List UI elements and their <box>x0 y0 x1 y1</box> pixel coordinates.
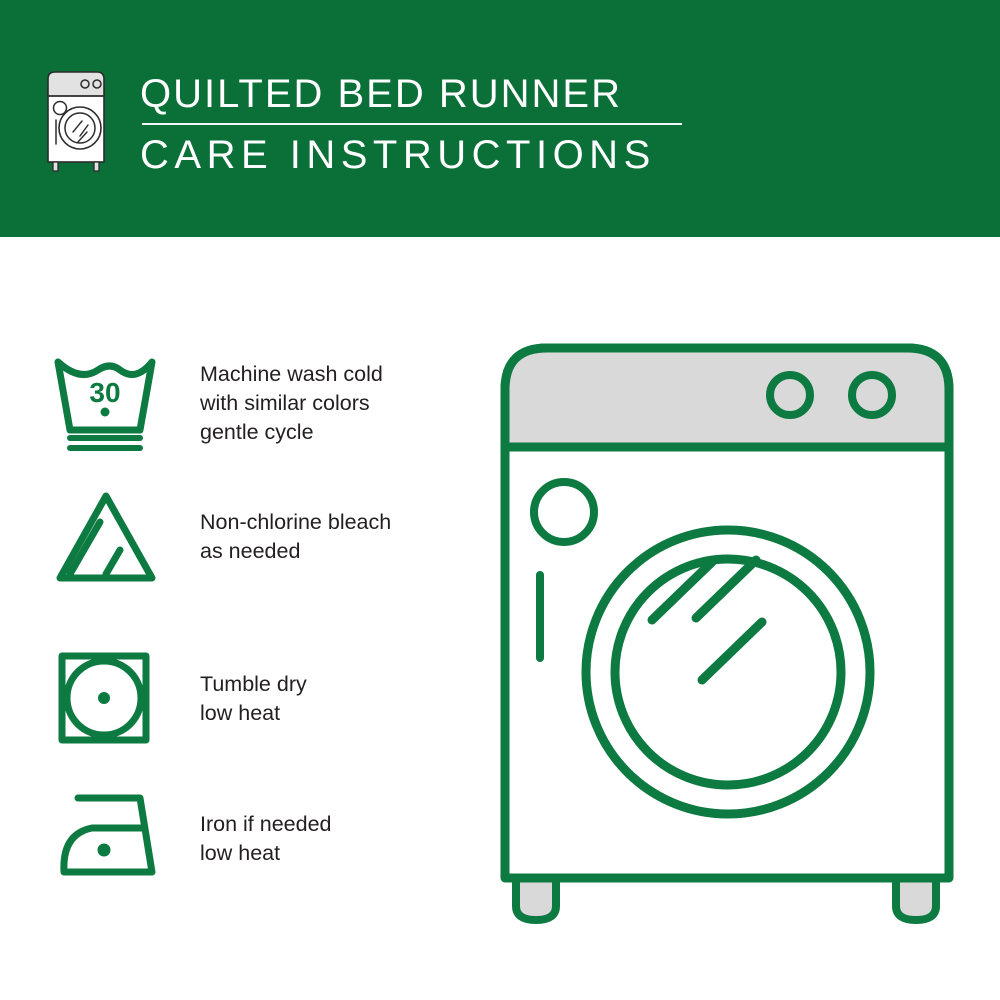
care-line: as needed <box>200 537 391 566</box>
care-item-machine-wash-label: Machine wash cold with similar colors ge… <box>200 360 383 447</box>
header-text-block: QUILTED BED RUNNER CARE INSTRUCTIONS <box>140 70 840 179</box>
washing-machine-icon <box>44 66 110 176</box>
care-line: gentle cycle <box>200 418 383 447</box>
wash-temperature-label: 30 <box>89 377 120 408</box>
care-item-iron-label: Iron if needed low heat <box>200 810 332 868</box>
care-line: Non-chlorine bleach <box>200 508 391 537</box>
page-title: QUILTED BED RUNNER <box>140 70 840 118</box>
care-line: with similar colors <box>200 389 383 418</box>
care-item-bleach-label: Non-chlorine bleach as needed <box>200 508 391 566</box>
care-instructions-infographic: QUILTED BED RUNNER CARE INSTRUCTIONS 30 … <box>0 0 1000 1000</box>
iron-low-heat-icon <box>48 788 168 888</box>
care-item-tumble-dry-label: Tumble dry low heat <box>200 670 307 728</box>
care-line: Tumble dry <box>200 670 307 699</box>
non-chlorine-bleach-icon <box>48 488 168 588</box>
care-line: Machine wash cold <box>200 360 383 389</box>
machine-wash-30-gentle-icon: 30 <box>48 352 168 452</box>
header-banner: QUILTED BED RUNNER CARE INSTRUCTIONS <box>0 0 1000 237</box>
tumble-dry-low-icon <box>48 648 168 748</box>
title-divider <box>142 123 682 125</box>
care-line: low heat <box>200 699 307 728</box>
care-line: low heat <box>200 839 332 868</box>
front-load-washing-machine-illustration <box>490 330 980 940</box>
care-line: Iron if needed <box>200 810 332 839</box>
page-subtitle: CARE INSTRUCTIONS <box>140 131 840 179</box>
